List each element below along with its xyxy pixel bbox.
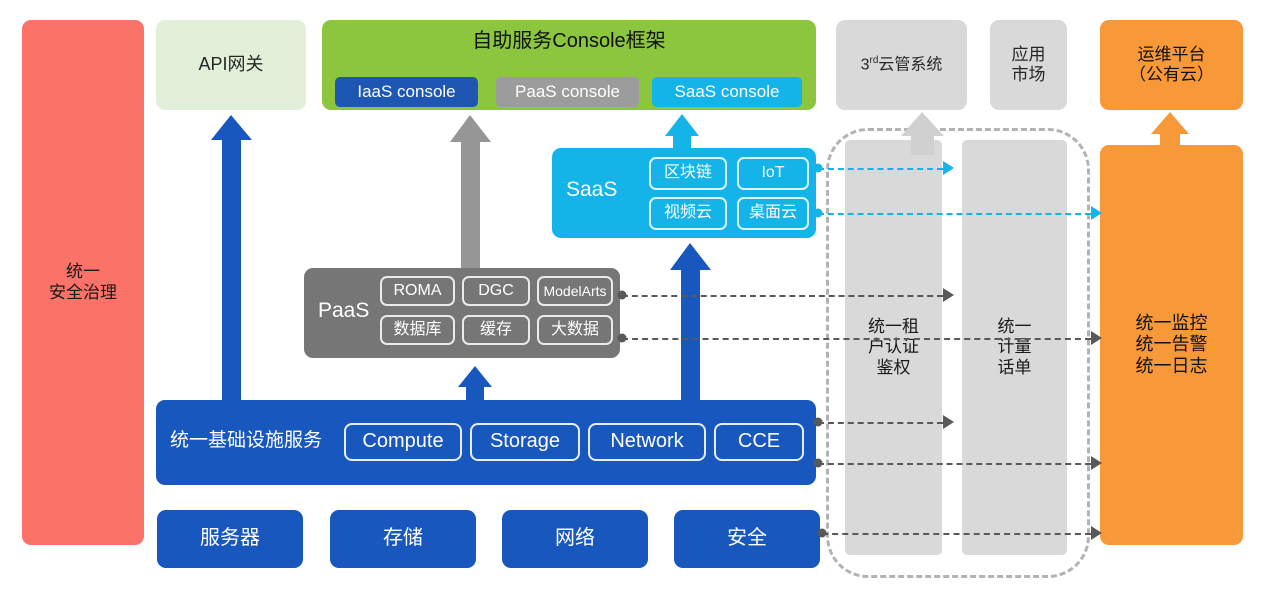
connector-arrowhead-paas-to-auth: [943, 288, 954, 302]
paas-block[interactable]: PaaS ROMA DGC ModelArts 数据库 缓存 大数据: [304, 268, 620, 358]
infra-item-compute[interactable]: Compute: [344, 423, 462, 461]
connector-arrowhead-paas-to-ops: [1091, 331, 1102, 345]
unified-metering-label: 统一 计量 话单: [998, 317, 1032, 378]
paas-item-roma[interactable]: ROMA: [380, 276, 455, 306]
paas-item-cache[interactable]: 缓存: [462, 315, 530, 345]
unified-infrastructure-service-block[interactable]: 统一基础设施服务 Compute Storage Network CCE: [156, 400, 816, 485]
saas-block[interactable]: SaaS 区块链 IoT 视频云 桌面云: [552, 148, 816, 238]
saas-item-blockchain[interactable]: 区块链: [649, 157, 727, 190]
saas-label: SaaS: [566, 178, 617, 203]
saas-item-video-cloud[interactable]: 视频云: [649, 197, 727, 230]
connector-arrowhead-infra-to-ops: [1091, 456, 1102, 470]
unified-monitoring-label: 统一监控 统一告警 统一日志: [1136, 313, 1208, 377]
unified-monitoring-column[interactable]: 统一监控 统一告警 统一日志: [1100, 145, 1243, 545]
resource-network-label: 网络: [555, 527, 595, 551]
architecture-diagram: 统一 安全治理 API网关 自助服务Console框架 IaaS console…: [0, 0, 1265, 605]
arrow-saas-to-saas-console: [665, 114, 699, 148]
connector-paas-to-ops: [622, 338, 1091, 340]
infra-item-cce[interactable]: CCE: [714, 423, 804, 461]
ops-platform-label: 运维平台 （公有云）: [1129, 45, 1214, 85]
infrastructure-label: 统一基础设施服务: [170, 430, 322, 452]
resource-storage-block[interactable]: 存储: [330, 510, 476, 568]
app-market-label: 应用 市场: [1012, 45, 1046, 85]
app-market-block[interactable]: 应用 市场: [990, 20, 1067, 110]
unified-tenant-auth-label: 统一租 户认证 鉴权: [868, 317, 919, 378]
unified-security-governance-block[interactable]: 统一 安全治理: [22, 20, 144, 545]
connector-paas-to-auth: [622, 295, 943, 297]
api-gateway-block[interactable]: API网关: [156, 20, 306, 110]
paas-item-database[interactable]: 数据库: [380, 315, 455, 345]
third-party-cloud-mgmt-block[interactable]: 3rd云管系统: [836, 20, 967, 110]
connector-arrowhead-saas-to-ops: [1091, 206, 1102, 220]
connector-infra-to-auth: [818, 422, 943, 424]
arrow-infra-to-paas: [458, 366, 492, 400]
resource-network-block[interactable]: 网络: [502, 510, 648, 568]
paas-item-dgc[interactable]: DGC: [462, 276, 530, 306]
resource-storage-label: 存储: [383, 527, 423, 551]
connector-infra-to-ops: [818, 463, 1091, 465]
unified-metering-column[interactable]: 统一 计量 话单: [962, 140, 1067, 555]
connector-arrowhead-saas-to-auth: [943, 161, 954, 175]
paas-item-modelarts[interactable]: ModelArts: [537, 276, 613, 306]
connector-arrowhead-infra-to-auth: [943, 415, 954, 429]
resource-security-label: 安全: [727, 527, 767, 551]
unified-tenant-auth-column[interactable]: 统一租 户认证 鉴权: [845, 140, 942, 555]
arrow-ops-column-to-ops-platform: [1151, 112, 1189, 145]
governance-label: 统一 安全治理: [49, 262, 117, 302]
api-gateway-label: API网关: [198, 54, 263, 75]
infra-item-network[interactable]: Network: [588, 423, 706, 461]
paas-item-bigdata[interactable]: 大数据: [537, 315, 613, 345]
infra-item-storage[interactable]: Storage: [470, 423, 580, 461]
third-party-cloud-mgmt-label: 3rd云管系统: [861, 55, 943, 75]
arrow-paas-to-console: [450, 115, 491, 268]
arrow-infra-to-saas: [670, 243, 711, 400]
connector-saas-to-ops: [818, 213, 1091, 215]
arrow-infra-to-api-gateway: [211, 115, 252, 400]
saas-console-chip[interactable]: SaaS console: [652, 77, 802, 107]
resource-server-label: 服务器: [200, 527, 260, 551]
connector-resources-to-ops: [822, 533, 1091, 535]
ops-platform-block[interactable]: 运维平台 （公有云）: [1100, 20, 1243, 110]
paas-label: PaaS: [318, 299, 369, 324]
paas-console-chip[interactable]: PaaS console: [496, 77, 639, 107]
connector-saas-to-auth: [818, 168, 943, 170]
iaas-console-chip[interactable]: IaaS console: [335, 77, 478, 107]
resource-server-block[interactable]: 服务器: [157, 510, 303, 568]
connector-arrowhead-resources-to-ops: [1091, 526, 1102, 540]
resource-security-block[interactable]: 安全: [674, 510, 820, 568]
saas-item-iot[interactable]: IoT: [737, 157, 809, 190]
saas-item-desktop-cloud[interactable]: 桌面云: [737, 197, 809, 230]
self-service-console-framework-block[interactable]: 自助服务Console框架 IaaS console PaaS console …: [322, 20, 816, 110]
console-framework-title: 自助服务Console框架: [322, 30, 816, 54]
